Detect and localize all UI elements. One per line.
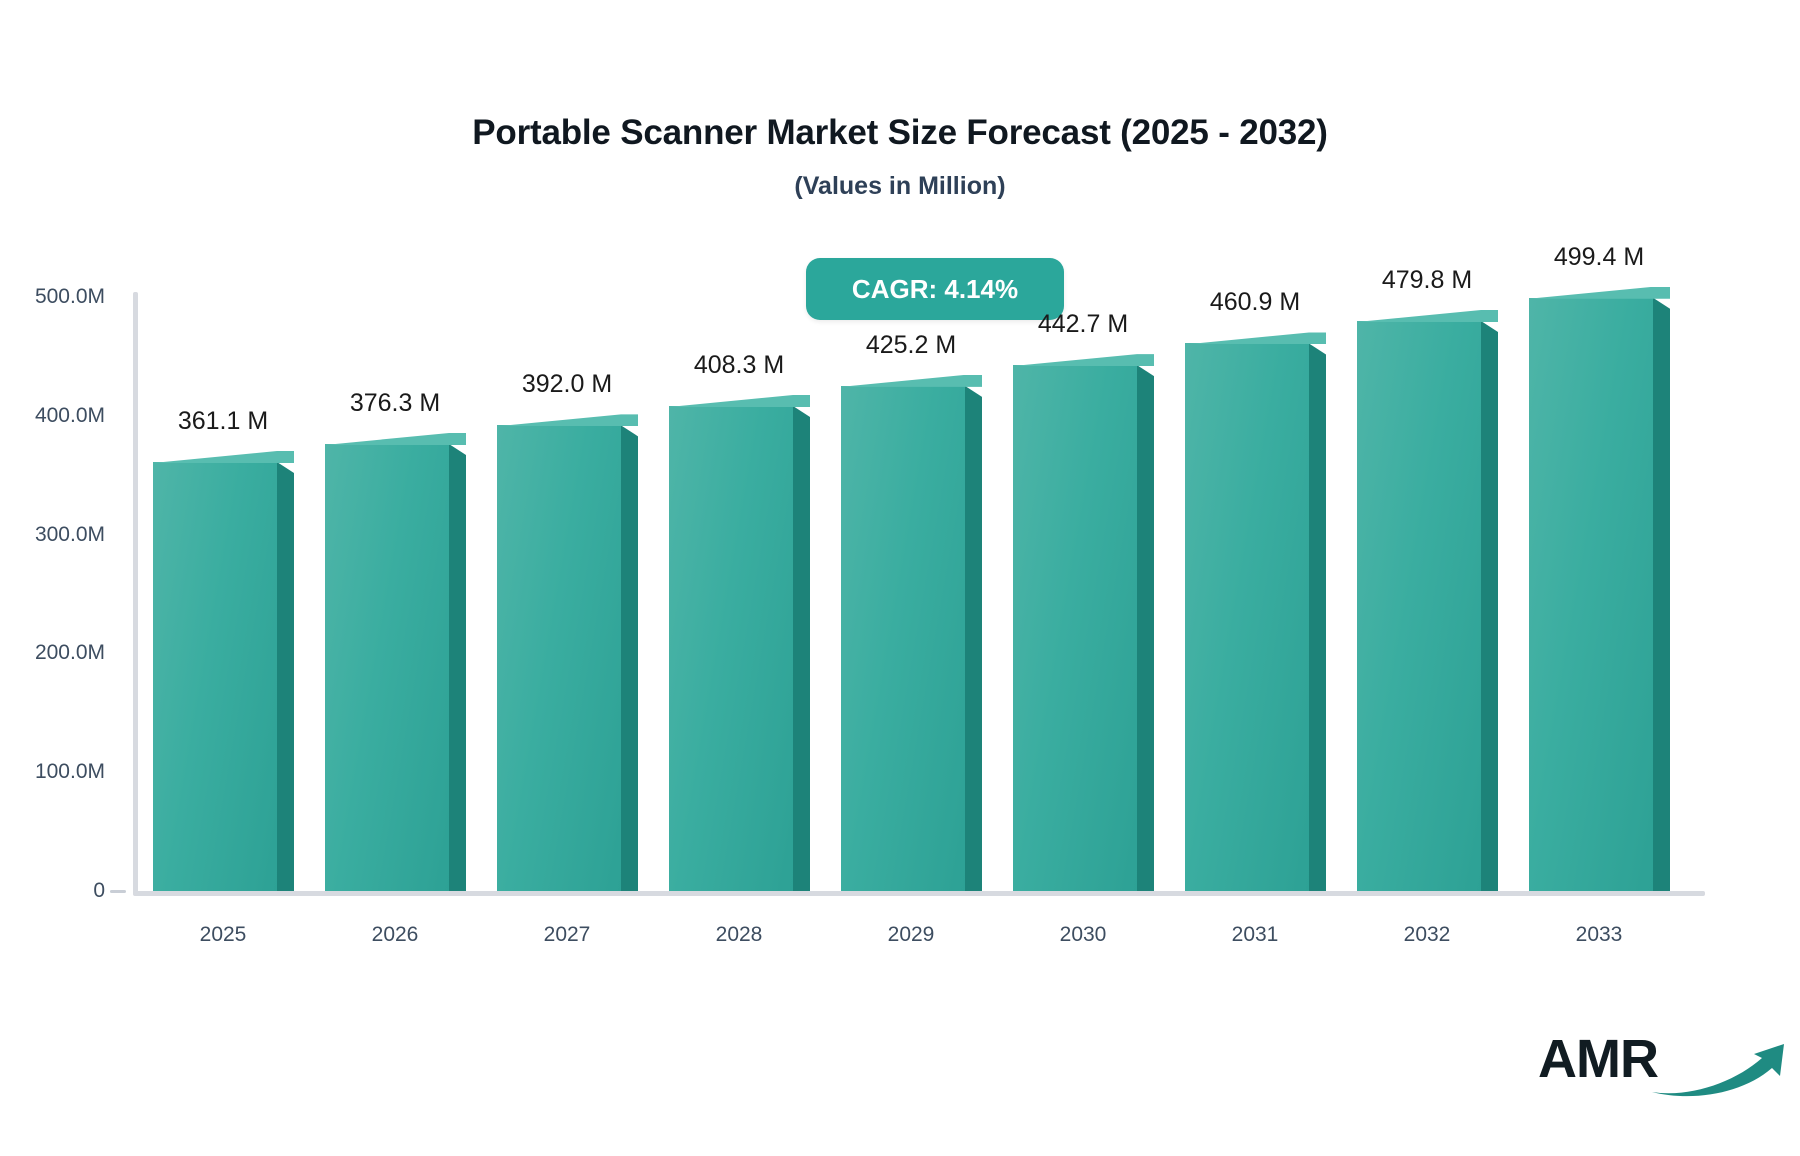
bar-side-face xyxy=(1309,343,1326,891)
bar-value-label: 499.4 M xyxy=(1489,243,1709,272)
bar-group[interactable]: 408.3 M2028 xyxy=(669,406,810,891)
bar-side-face xyxy=(793,406,810,891)
y-axis-tick-label: 200.0M xyxy=(35,641,105,665)
bar-face[interactable] xyxy=(1013,365,1137,891)
bar-top-face xyxy=(841,375,982,387)
bar-face[interactable] xyxy=(1357,321,1481,891)
x-axis-tick-label: 2033 xyxy=(1489,923,1709,947)
bar-group[interactable]: 499.4 M2033 xyxy=(1529,298,1670,891)
y-axis-tick-label: 400.0M xyxy=(35,404,105,428)
bar-top-face xyxy=(1357,310,1498,322)
bar-top-face xyxy=(1529,287,1670,299)
bar-top-face xyxy=(153,451,294,463)
bar-group[interactable]: 376.3 M2026 xyxy=(325,444,466,891)
bar-side-face xyxy=(1653,298,1670,891)
bar-group[interactable]: 361.1 M2025 xyxy=(153,462,294,891)
plot-area: 500.0M400.0M300.0M200.0M100.0M0 361.1 M2… xyxy=(133,292,1705,894)
bar-top-face xyxy=(1185,332,1326,344)
chart-subtitle: (Values in Million) xyxy=(0,172,1800,201)
bar-top-face xyxy=(325,433,466,445)
bar-face[interactable] xyxy=(1529,298,1653,891)
bar-side-face xyxy=(621,425,638,891)
bar-group[interactable]: 392.0 M2027 xyxy=(497,425,638,891)
bar-side-face xyxy=(277,462,294,891)
y-axis-tick-label: 500.0M xyxy=(35,285,105,309)
bar-face[interactable] xyxy=(153,462,277,891)
y-axis-tick-label: 0 xyxy=(93,879,105,903)
bar-face[interactable] xyxy=(497,425,621,891)
bar-face[interactable] xyxy=(325,444,449,891)
bar-group[interactable]: 460.9 M2031 xyxy=(1185,343,1326,891)
y-axis-tick-label: 300.0M xyxy=(35,523,105,547)
bar-top-face xyxy=(1013,354,1154,366)
bar-group[interactable]: 479.8 M2032 xyxy=(1357,321,1498,891)
amr-logo: AMR xyxy=(1538,1032,1658,1086)
bar-side-face xyxy=(449,444,466,891)
bar-side-face xyxy=(1481,321,1498,891)
growth-arrow-icon xyxy=(1650,1040,1800,1105)
bar-face[interactable] xyxy=(1185,343,1309,891)
chart-title: Portable Scanner Market Size Forecast (2… xyxy=(0,113,1800,153)
bar-top-face xyxy=(669,395,810,407)
bar-face[interactable] xyxy=(841,386,965,891)
bar-side-face xyxy=(1137,365,1154,891)
bar-group[interactable]: 442.7 M2030 xyxy=(1013,365,1154,891)
bar-face[interactable] xyxy=(669,406,793,891)
bar-top-face xyxy=(497,414,638,426)
y-axis-tick-label: 100.0M xyxy=(35,760,105,784)
amr-logo-text: AMR xyxy=(1538,1032,1658,1086)
chart-canvas: Portable Scanner Market Size Forecast (2… xyxy=(0,0,1800,1156)
y-axis-line xyxy=(133,292,138,894)
bar-group[interactable]: 425.2 M2029 xyxy=(841,386,982,891)
bar-side-face xyxy=(965,386,982,891)
y-axis-tick-mark xyxy=(110,890,126,893)
x-axis-line xyxy=(133,891,1705,896)
